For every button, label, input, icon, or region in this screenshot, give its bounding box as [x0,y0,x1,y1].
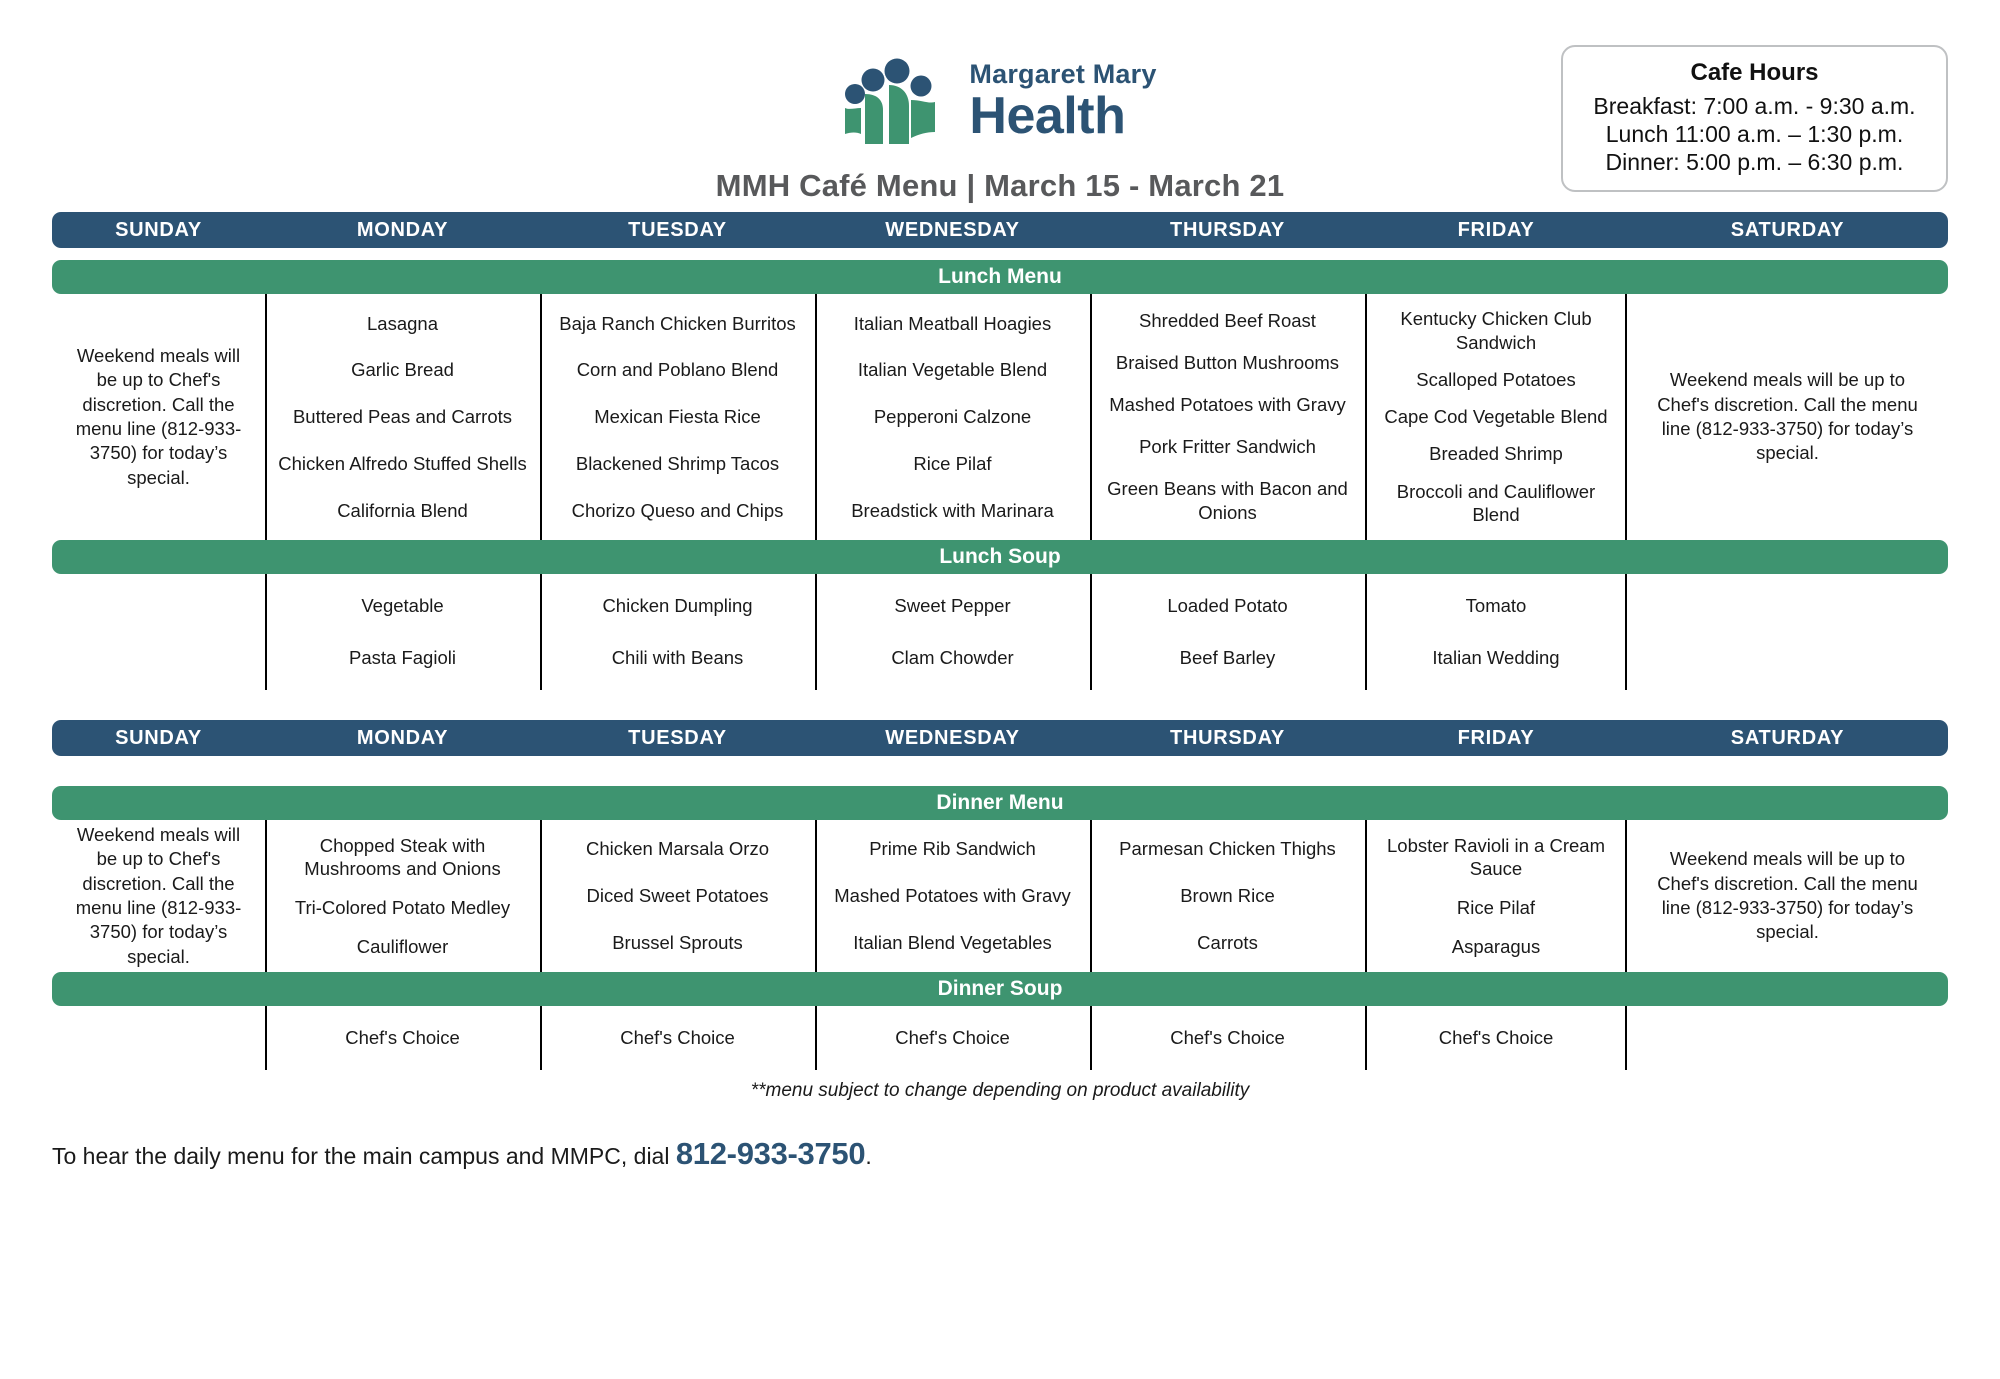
menu-item: Chicken Alfredo Stuffed Shells [273,452,532,476]
menu-item: Kentucky Chicken Club Sandwich [1373,307,1619,354]
lunch-wednesday-cell: Italian Meatball Hoagies Italian Vegetab… [815,294,1090,540]
lunch-soup-tuesday-cell: Chicken Dumpling Chili with Beans [540,574,815,690]
menu-item: Mexican Fiesta Rice [548,405,807,429]
lunch-soup-wednesday-cell: Sweet Pepper Clam Chowder [815,574,1090,690]
dinner-soup-sunday-cell [52,1006,265,1070]
cafe-hours-breakfast: Breakfast: 7:00 a.m. - 9:30 a.m. [1573,92,1936,120]
day-header-monday: MONDAY [265,219,540,242]
menu-item: Pork Fritter Sandwich [1098,435,1357,459]
soup-item: Pasta Fagioli [273,646,532,670]
menu-item: Chorizo Queso and Chips [548,499,807,523]
day-header-saturday-2: SATURDAY [1627,727,1948,750]
menu-item: Garlic Bread [273,358,532,382]
dinner-friday-cell: Lobster Ravioli in a Cream Sauce Rice Pi… [1365,820,1627,972]
menu-item: Italian Meatball Hoagies [823,312,1082,336]
spacer [52,248,1948,260]
soup-item: Chef's Choice [273,1026,532,1050]
day-header-thursday: THURSDAY [1090,219,1365,242]
menu-item: Corn and Poblano Blend [548,358,807,382]
dinner-saturday-cell: Weekend meals will be up to Chef's discr… [1627,820,1948,972]
day-header-sunday: SUNDAY [52,219,265,242]
cafe-hours-title: Cafe Hours [1573,59,1936,87]
day-header-friday: FRIDAY [1365,219,1627,242]
lunch-soup-saturday-cell [1627,574,1948,690]
dinner-monday-cell: Chopped Steak with Mushrooms and Onions … [265,820,540,972]
brand-text: Margaret Mary Health [969,61,1156,142]
menu-item: Chopped Steak with Mushrooms and Onions [273,834,532,881]
section-bar-dinner-menu: Dinner Menu [52,786,1948,820]
section-bar-lunch-menu: Lunch Menu [52,260,1948,294]
page-header: Margaret Mary Health MMH Café Menu | Mar… [0,0,2000,212]
menu-item: Tri-Colored Potato Medley [273,896,532,920]
menu-item: Parmesan Chicken Thighs [1098,837,1357,861]
dial-text-before: To hear the daily menu for the main camp… [52,1143,676,1169]
weekend-note-dinner-saturday: Weekend meals will be up to Chef's discr… [1635,826,1940,966]
soup-item: Chef's Choice [1098,1026,1357,1050]
menu-item: Italian Blend Vegetables [823,931,1082,955]
menu-item: Prime Rib Sandwich [823,837,1082,861]
spacer [52,756,1948,786]
soup-item: Tomato [1373,594,1619,618]
menu-item: Lasagna [273,312,532,336]
lunch-monday-cell: Lasagna Garlic Bread Buttered Peas and C… [265,294,540,540]
soup-item: Vegetable [273,594,532,618]
menu-item: Rice Pilaf [1373,896,1619,920]
day-header-wednesday: WEDNESDAY [815,219,1090,242]
menu-item: Baja Ranch Chicken Burritos [548,312,807,336]
dinner-tuesday-cell: Chicken Marsala Orzo Diced Sweet Potatoe… [540,820,815,972]
dinner-wednesday-cell: Prime Rib Sandwich Mashed Potatoes with … [815,820,1090,972]
lunch-soup-monday-cell: Vegetable Pasta Fagioli [265,574,540,690]
day-header-thursday-2: THURSDAY [1090,727,1365,750]
soup-item: Loaded Potato [1098,594,1357,618]
menu-item: Diced Sweet Potatoes [548,884,807,908]
menu-item: Cape Cod Vegetable Blend [1373,405,1619,429]
people-book-logo-icon [843,58,951,144]
lunch-soup-row: Vegetable Pasta Fagioli Chicken Dumpling… [52,574,1948,690]
menu-item: Italian Vegetable Blend [823,358,1082,382]
menu-item: Brussel Sprouts [548,931,807,955]
cafe-hours-lunch: Lunch 11:00 a.m. – 1:30 p.m. [1573,120,1936,148]
menu-item: Asparagus [1373,935,1619,959]
lunch-soup-thursday-cell: Loaded Potato Beef Barley [1090,574,1365,690]
soup-item: Sweet Pepper [823,594,1082,618]
menu-item: California Blend [273,499,532,523]
cafe-hours-dinner: Dinner: 5:00 p.m. – 6:30 p.m. [1573,148,1936,176]
day-header-wednesday-2: WEDNESDAY [815,727,1090,750]
menu-item: Broccoli and Cauliflower Blend [1373,480,1619,527]
day-header-row-dinner: SUNDAY MONDAY TUESDAY WEDNESDAY THURSDAY… [52,720,1948,756]
dinner-sunday-cell: Weekend meals will be up to Chef's discr… [52,820,265,972]
weekend-note-lunch-sunday: Weekend meals will be up to Chef's discr… [60,300,257,534]
section-bar-lunch-soup: Lunch Soup [52,540,1948,574]
menu-item: Mashed Potatoes with Gravy [1098,393,1357,417]
weekend-note-lunch-saturday: Weekend meals will be up to Chef's discr… [1635,300,1940,534]
day-header-friday-2: FRIDAY [1365,727,1627,750]
lunch-friday-cell: Kentucky Chicken Club Sandwich Scalloped… [1365,294,1627,540]
menu-item: Shredded Beef Roast [1098,309,1357,333]
menu-item: Cauliflower [273,935,532,959]
dial-phone-number[interactable]: 812-933-3750 [676,1136,865,1171]
spacer [52,690,1948,720]
brand-line-1: Margaret Mary [969,61,1156,88]
menu-item: Lobster Ravioli in a Cream Sauce [1373,834,1619,881]
dinner-soup-saturday-cell [1627,1006,1948,1070]
menu-item: Blackened Shrimp Tacos [548,452,807,476]
lunch-saturday-cell: Weekend meals will be up to Chef's discr… [1627,294,1948,540]
lunch-sunday-cell: Weekend meals will be up to Chef's discr… [52,294,265,540]
dial-line: To hear the daily menu for the main camp… [52,1136,2000,1172]
soup-item: Clam Chowder [823,646,1082,670]
menu-item: Green Beans with Bacon and Onions [1098,477,1357,524]
day-header-tuesday: TUESDAY [540,219,815,242]
day-header-sunday-2: SUNDAY [52,727,265,750]
soup-item: Chef's Choice [823,1026,1082,1050]
dinner-soup-row: Chef's Choice Chef's Choice Chef's Choic… [52,1006,1948,1070]
menu-sheet: SUNDAY MONDAY TUESDAY WEDNESDAY THURSDAY… [0,212,2000,1102]
menu-item: Pepperoni Calzone [823,405,1082,429]
lunch-thursday-cell: Shredded Beef Roast Braised Button Mushr… [1090,294,1365,540]
dinner-soup-wednesday-cell: Chef's Choice [815,1006,1090,1070]
dial-text-after: . [865,1143,871,1169]
soup-item: Chef's Choice [548,1026,807,1050]
menu-item: Breaded Shrimp [1373,442,1619,466]
menu-item: Chicken Marsala Orzo [548,837,807,861]
dinner-menu-row: Weekend meals will be up to Chef's discr… [52,820,1948,972]
day-header-tuesday-2: TUESDAY [540,727,815,750]
section-bar-dinner-soup: Dinner Soup [52,972,1948,1006]
cafe-hours-box: Cafe Hours Breakfast: 7:00 a.m. - 9:30 a… [1561,45,1948,192]
menu-item: Rice Pilaf [823,452,1082,476]
lunch-soup-friday-cell: Tomato Italian Wedding [1365,574,1627,690]
soup-item: Chicken Dumpling [548,594,807,618]
soup-item: Chili with Beans [548,646,807,670]
lunch-menu-row: Weekend meals will be up to Chef's discr… [52,294,1948,540]
weekend-note-dinner-sunday: Weekend meals will be up to Chef's discr… [60,826,257,966]
menu-item: Mashed Potatoes with Gravy [823,884,1082,908]
soup-item: Beef Barley [1098,646,1357,670]
dinner-soup-tuesday-cell: Chef's Choice [540,1006,815,1070]
menu-page: Margaret Mary Health MMH Café Menu | Mar… [0,0,2000,1379]
menu-item: Scalloped Potatoes [1373,368,1619,392]
menu-item: Braised Button Mushrooms [1098,351,1357,375]
menu-item: Breadstick with Marinara [823,499,1082,523]
brand-line-2: Health [969,90,1156,142]
dinner-thursday-cell: Parmesan Chicken Thighs Brown Rice Carro… [1090,820,1365,972]
menu-item: Brown Rice [1098,884,1357,908]
day-header-monday-2: MONDAY [265,727,540,750]
lunch-soup-sunday-cell [52,574,265,690]
soup-item: Chef's Choice [1373,1026,1619,1050]
dinner-soup-friday-cell: Chef's Choice [1365,1006,1627,1070]
day-header-saturday: SATURDAY [1627,219,1948,242]
menu-footnote: **menu subject to change depending on pr… [52,1080,1948,1102]
day-header-row-lunch: SUNDAY MONDAY TUESDAY WEDNESDAY THURSDAY… [52,212,1948,248]
dinner-soup-monday-cell: Chef's Choice [265,1006,540,1070]
soup-item: Italian Wedding [1373,646,1619,670]
menu-item: Carrots [1098,931,1357,955]
menu-item: Buttered Peas and Carrots [273,405,532,429]
lunch-tuesday-cell: Baja Ranch Chicken Burritos Corn and Pob… [540,294,815,540]
dinner-soup-thursday-cell: Chef's Choice [1090,1006,1365,1070]
